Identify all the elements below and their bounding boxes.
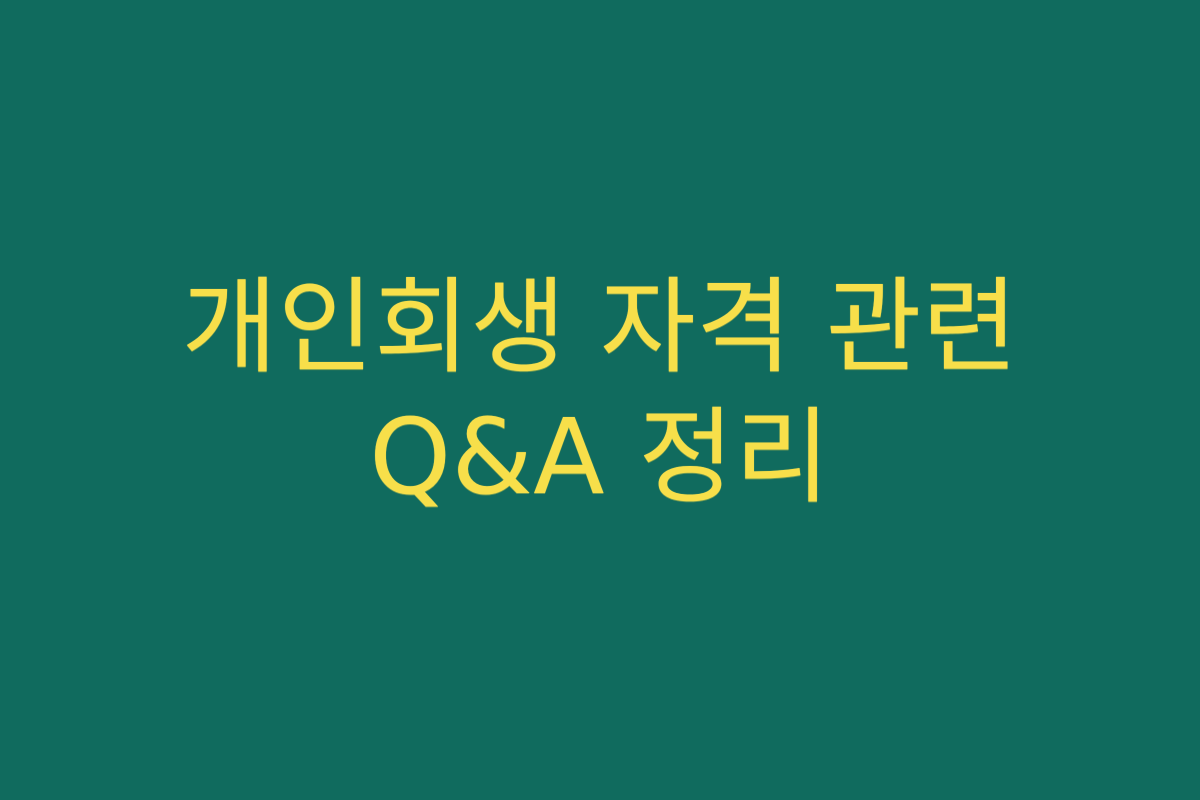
title-block: 개인회생 자격 관련 Q&A 정리: [100, 262, 1100, 522]
page-title: 개인회생 자격 관련 Q&A 정리: [100, 262, 1100, 522]
title-card-canvas: 개인회생 자격 관련 Q&A 정리: [0, 0, 1200, 800]
